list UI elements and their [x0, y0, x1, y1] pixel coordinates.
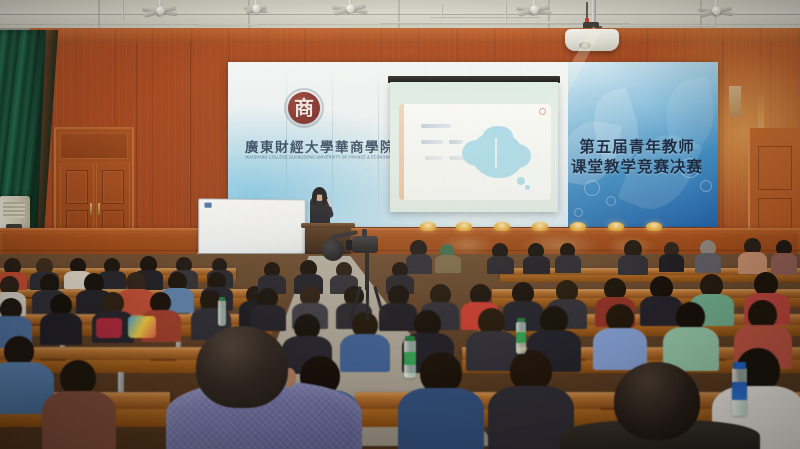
ceiling: [0, 0, 800, 30]
event-title-line-1: 第五届青年教师: [567, 138, 707, 158]
stage-footlight: [532, 222, 548, 231]
university-emblem: 商: [288, 92, 320, 124]
stage-footlight: [420, 222, 436, 231]
stage-footlight: [494, 222, 510, 231]
camera-microphone: [362, 229, 367, 237]
projection-screen: [390, 82, 558, 212]
door-handle[interactable]: [90, 203, 92, 215]
stage-footlight: [570, 222, 586, 231]
slide-accent-bar: [399, 104, 404, 200]
stage-footlight: [608, 222, 624, 231]
foreground-person-head: [196, 326, 288, 408]
video-camera[interactable]: [352, 236, 378, 253]
slide-corner-mark: [539, 108, 546, 115]
ac-vent: [3, 202, 25, 218]
podium-top: [301, 223, 355, 228]
tripod-column: [365, 252, 369, 290]
event-title: 第五届青年教师 课堂教学竞赛决赛: [567, 138, 707, 178]
camera-head: [322, 239, 344, 261]
projector: [565, 29, 619, 51]
door-transom: [60, 133, 128, 159]
door-handle[interactable]: [98, 203, 100, 215]
university-name-chinese: 廣東財經大學華商學院: [240, 136, 400, 156]
water-bottle[interactable]: [218, 300, 226, 326]
whiteboard-clip: [204, 203, 211, 208]
wall-plaque: [729, 86, 741, 117]
stage-footlight: [646, 222, 662, 231]
whiteboard[interactable]: [198, 198, 305, 254]
stage-footlight: [456, 222, 472, 231]
university-name-english: HUASHANG COLLEGE GUANGDONG UNIVERSITY OF…: [238, 155, 403, 160]
projector-lens: [579, 42, 591, 49]
foreground-person-right-head: [614, 362, 700, 440]
event-title-line-2: 课堂教学竞赛决赛: [567, 158, 707, 178]
presentation-slide: [399, 104, 551, 200]
photo-scene: 商 廣東財經大學華商學院 HUASHANG COLLEGE GUANGDONG …: [0, 0, 800, 449]
